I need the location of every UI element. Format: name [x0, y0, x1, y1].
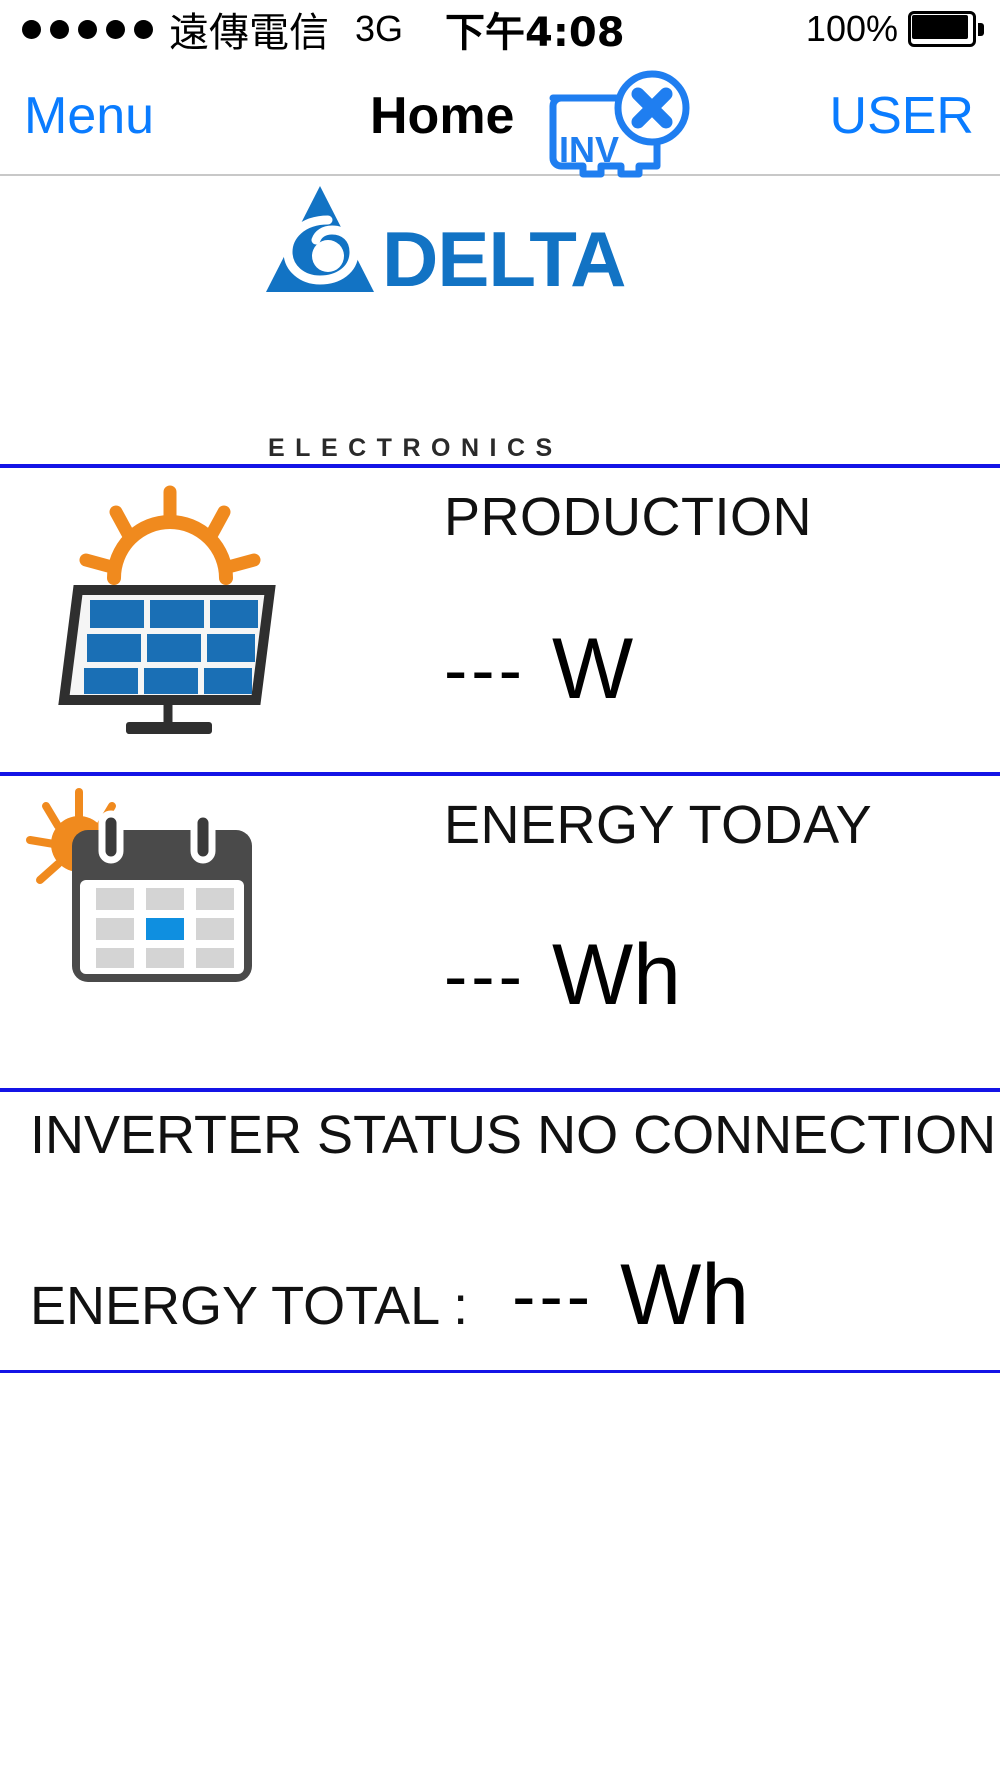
svg-text:INV: INV: [559, 129, 619, 170]
signal-dot: [22, 20, 41, 39]
brand-logo: DELTA ELECTRONICS: [0, 176, 1000, 408]
production-value: --- W: [444, 620, 633, 719]
inverter-disconnected-icon[interactable]: INV: [545, 72, 695, 177]
divider-bottom: [0, 1370, 1000, 1373]
production-value-number: ---: [444, 630, 526, 710]
energy-total-label: ENERGY TOTAL :: [30, 1275, 468, 1337]
network-type: 3G: [355, 8, 403, 50]
metric-row-energy-today: ENERGY TODAY --- Wh: [0, 776, 1000, 1088]
energy-today-value: --- Wh: [444, 926, 681, 1025]
calendar-today-cell: [146, 918, 184, 940]
user-button[interactable]: USER: [830, 86, 974, 146]
brand-subtitle: ELECTRONICS: [268, 434, 558, 463]
metric-row-production: PRODUCTION --- W: [0, 468, 1000, 776]
energy-today-label: ENERGY TODAY: [444, 794, 872, 856]
energy-total-row: ENERGY TOTAL : --- Wh: [30, 1246, 749, 1345]
svg-text:DELTA: DELTA: [382, 215, 625, 303]
energy-total-value-unit: Wh: [620, 1246, 749, 1345]
energy-today-value-unit: Wh: [552, 926, 681, 1025]
production-value-unit: W: [552, 620, 633, 719]
status-bar-right: 100%: [806, 0, 984, 58]
status-bar: 遠傳電信 3G 下午4:08 100%: [0, 0, 1000, 58]
production-label: PRODUCTION: [444, 486, 812, 548]
calendar-sun-icon: [24, 788, 294, 988]
battery-icon: [908, 11, 984, 47]
signal-dot: [134, 20, 153, 39]
carrier-name: 遠傳電信: [169, 0, 329, 58]
page-title: Home: [370, 86, 514, 146]
signal-strength-dots: [22, 20, 153, 39]
menu-button[interactable]: Menu: [24, 86, 154, 146]
energy-total-value-number: ---: [512, 1256, 594, 1336]
clock: 下午4:08: [445, 0, 625, 58]
battery-percent: 100%: [806, 8, 898, 50]
divider-status: [0, 1088, 1000, 1092]
signal-dot: [106, 20, 125, 39]
signal-dot: [50, 20, 69, 39]
inverter-status-text: INVERTER STATUS NO CONNECTION: [30, 1104, 996, 1166]
solar-panel-icon: [42, 486, 302, 736]
delta-logo-mark: DELTA: [262, 180, 562, 300]
navigation-bar: Menu Home INV USER: [0, 58, 1000, 176]
energy-today-value-number: ---: [444, 936, 526, 1016]
app-root: 遠傳電信 3G 下午4:08 100% Menu Home INV USER: [0, 0, 1000, 1778]
signal-dot: [78, 20, 97, 39]
